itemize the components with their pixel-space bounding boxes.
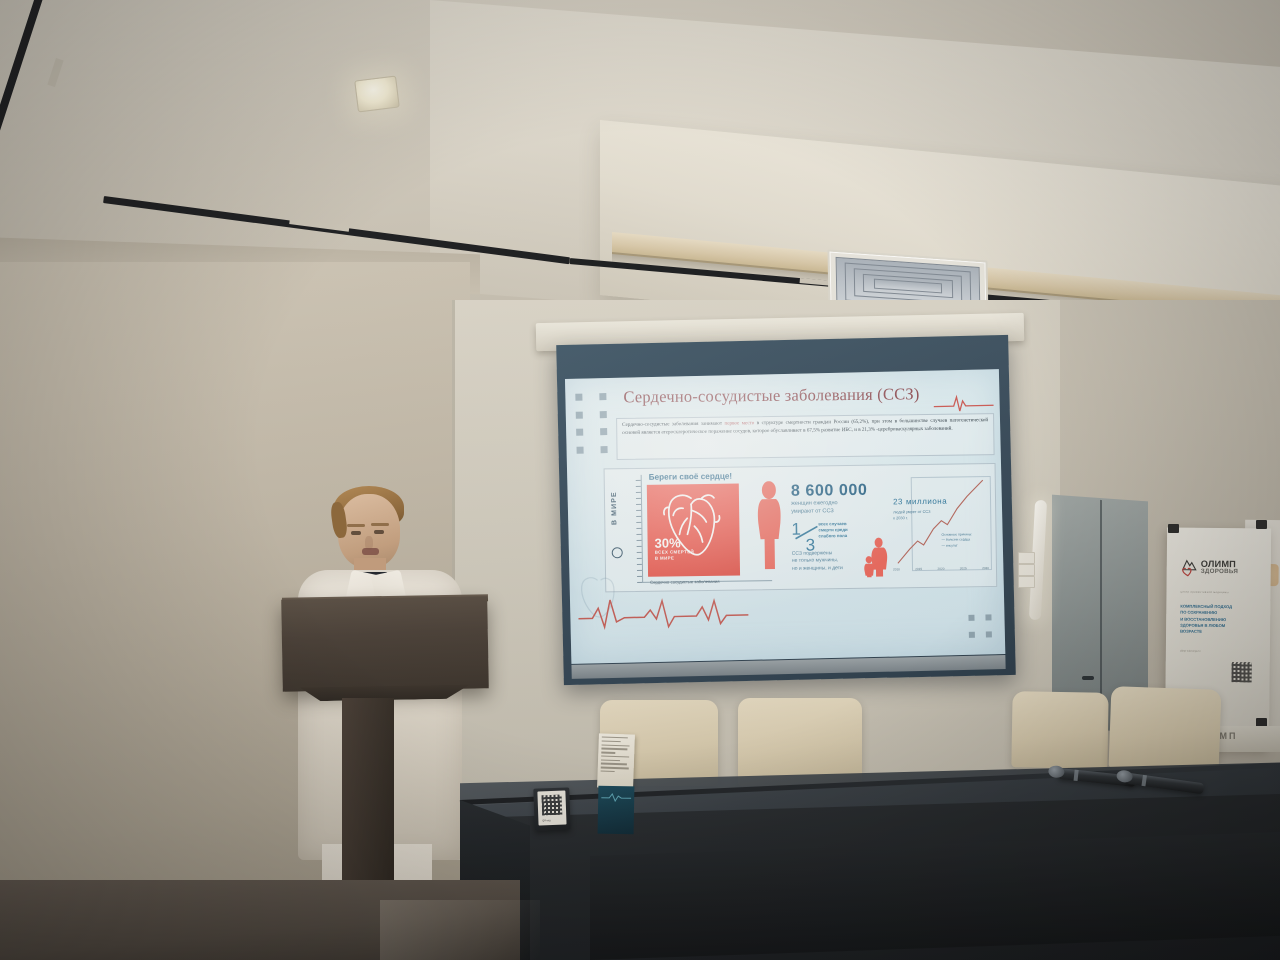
- projection-unit: миллиона: [906, 497, 947, 507]
- woman-figure-icon: [753, 481, 786, 573]
- banner-footer-url: olimp-zdorovya.ru: [1180, 650, 1201, 653]
- slide-infographic: В МИРЕ Береги своё сердце!: [604, 463, 998, 592]
- chair[interactable]: [738, 698, 862, 786]
- qr-code-stand[interactable]: QR-код: [533, 787, 570, 830]
- ecg-line-icon: [933, 391, 993, 414]
- banner-logo-text: ОЛИМП ЗДОРОВЬЯ: [1201, 559, 1239, 575]
- projection-text: людей умрет от ССЗ к 2030 г.: [893, 509, 930, 521]
- chart-x-tick-labels: 2010 2015 2020 2025 2030: [890, 566, 992, 571]
- fraction-text: всех случаев смерти среди слабого пола: [818, 521, 848, 540]
- slide-paragraph: Сердечно-сосудистые заболевания занимают…: [622, 417, 988, 437]
- qr-code-card: QR-код: [537, 791, 566, 826]
- fraction-text-3: слабого пола: [818, 533, 847, 540]
- qr-code-label: QR-код: [542, 819, 550, 822]
- olimp-mountain-heart-icon: [1181, 558, 1198, 577]
- slide-paragraph-box: Сердечно-сосудистые заболевания занимают…: [616, 413, 995, 460]
- chart-tick: 2030: [982, 566, 989, 570]
- family-text-3: но и женщины, и дети: [792, 565, 843, 573]
- infographic-vertical-label: В МИРЕ: [611, 491, 618, 525]
- banner-logo: ОЛИМП ЗДОРОВЬЯ: [1181, 558, 1239, 578]
- projection-number: 23 миллиона: [893, 495, 947, 508]
- infographic-y-axis: [627, 477, 642, 583]
- floor-reflection: [380, 900, 540, 960]
- infographic-heading: Береги своё сердце!: [649, 472, 733, 482]
- chart-tick: 2020: [937, 567, 944, 571]
- door-handle[interactable]: [1082, 676, 1094, 680]
- women-stat-number: 8 600 000: [791, 482, 868, 501]
- women-stat-text: женщин ежегодно умирают от ССЗ: [791, 500, 838, 517]
- qr-code-icon: [542, 795, 563, 816]
- legend-item-1: — болезни сердца: [942, 538, 973, 544]
- globe-icon: [612, 547, 623, 558]
- banner-body-5: ВОЗРАСТЕ: [1180, 629, 1254, 636]
- banner-clamp: [1256, 520, 1267, 529]
- printed-flyer[interactable]: [597, 733, 635, 788]
- chart-legend: Основные причины: — болезни сердца — инс…: [941, 532, 972, 548]
- podium: [281, 596, 489, 692]
- slide-content: Сердечно-сосудистые заболевания (ССЗ) Се…: [565, 369, 1005, 664]
- projection-chart: 23 миллиона людей умрет от ССЗ к 2030 г.…: [889, 474, 992, 579]
- women-text-2: умирают от ССЗ: [791, 508, 838, 517]
- chart-tick: 2015: [915, 567, 922, 571]
- legend-item-2: — инсульт: [942, 543, 973, 549]
- booklet[interactable]: [598, 786, 635, 835]
- projection-screen: Сердечно-сосудистые заболевания (ССЗ) Се…: [556, 335, 1016, 685]
- slide-decoration-dots-bottom: [968, 614, 995, 641]
- ecg-waveform-bottom: [578, 591, 819, 632]
- banner-logo-subtitle: центр превентивной медицины: [1180, 591, 1228, 595]
- speaker-head: [338, 494, 400, 568]
- paragraph-part-1: Сердечно-сосудистые заболевания занимают: [622, 421, 724, 428]
- projected-slide: Сердечно-сосудистые заболевания (ССЗ) Се…: [565, 369, 1005, 664]
- projection-value: 23: [893, 497, 903, 506]
- slide-decoration-dots-top: [575, 393, 610, 456]
- speaker-mouth: [362, 548, 379, 555]
- ceiling-spotlight-icon: [354, 76, 400, 113]
- projection-text-2: к 2030 г.: [893, 515, 930, 521]
- family-text: ССЗ подвержены не только мужчины, но и ж…: [792, 550, 843, 573]
- banner-logo-line2: ЗДОРОВЬЯ: [1201, 569, 1239, 576]
- power-outlets[interactable]: [1018, 552, 1034, 586]
- heart-stat-label-2: В МИРЕ: [655, 556, 694, 561]
- heart-stat-label-1: ВСЕХ СМЕРТЕЙ: [655, 550, 694, 555]
- family-figures-icon: [864, 537, 891, 577]
- door-divider: [1100, 500, 1102, 726]
- infographic-axis-vertical: [641, 475, 644, 583]
- chart-tick: 2010: [893, 567, 900, 571]
- heart-stat-card: 30% ВСЕХ СМЕРТЕЙ В МИРЕ: [647, 484, 740, 577]
- banner-body-text: КОМПЛЕКСНЫЙ ПОДХОД ПО СОХРАНЕНИЮ И ВОССТ…: [1180, 604, 1254, 636]
- chair[interactable]: [1011, 691, 1108, 769]
- heart-caption: Сердечно-сосудистые заболевания: [650, 579, 719, 585]
- heart-stat-value: 30% ВСЕХ СМЕРТЕЙ В МИРЕ: [655, 536, 695, 560]
- chart-tick: 2025: [960, 566, 967, 570]
- banner-clamp: [1168, 524, 1179, 533]
- banner-qr-code-icon: [1232, 662, 1252, 682]
- one-third-icon: 1 3: [791, 518, 821, 552]
- chart-line-series: [889, 474, 992, 571]
- chair[interactable]: [1109, 686, 1222, 772]
- booklet-ecg-icon: [601, 792, 631, 803]
- conference-room-scene: Сердечно-сосудистые заболевания (ССЗ) Се…: [0, 0, 1280, 960]
- paragraph-highlight: первое место: [724, 420, 754, 426]
